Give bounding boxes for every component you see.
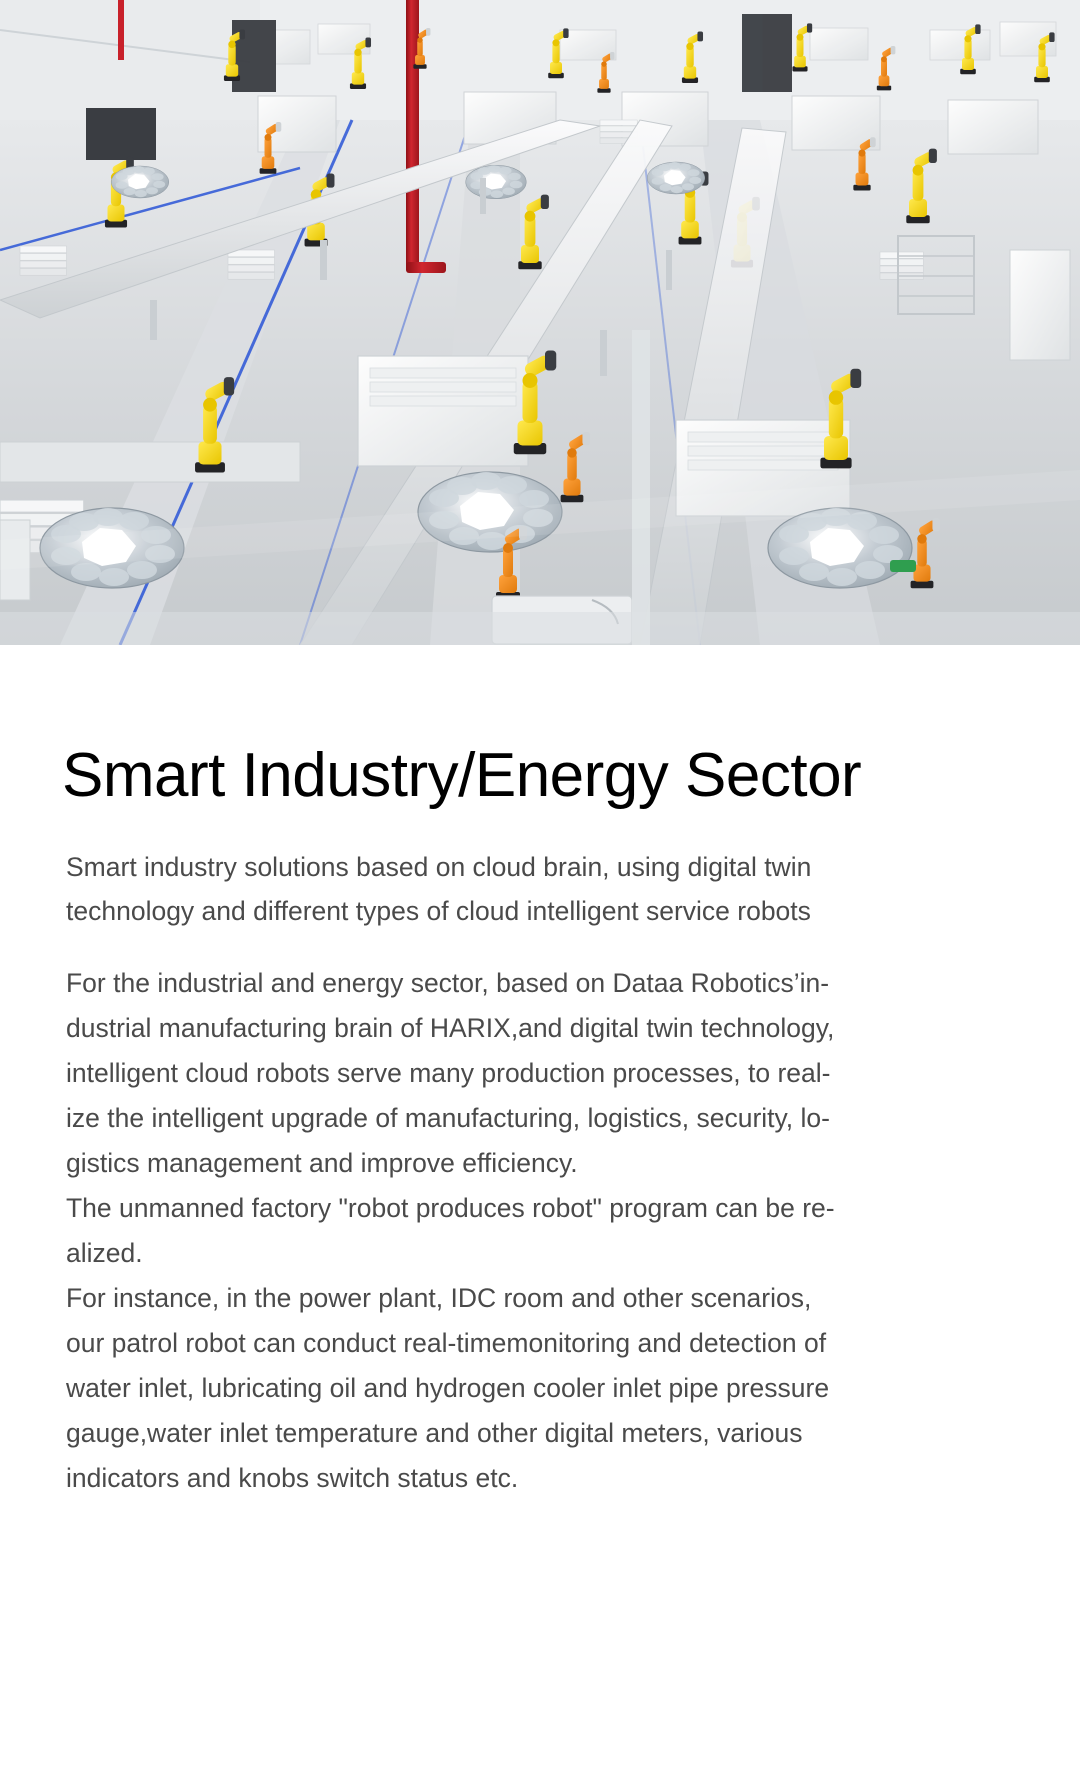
- article-body: Smart industry solutions based on cloud …: [66, 845, 896, 1501]
- body-line: dustrial manufacturing brain of HARIX,an…: [66, 1006, 896, 1051]
- body-line: gistics management and improve efficienc…: [66, 1141, 896, 1186]
- page-title: Smart Industry/Energy Sector: [62, 745, 1042, 807]
- body-line: indicators and knobs switch status etc.: [66, 1456, 896, 1501]
- body-line: alized.: [66, 1231, 896, 1276]
- lede-line: technology and different types of cloud …: [66, 896, 811, 926]
- body-line: water inlet, lubricating oil and hydroge…: [66, 1366, 896, 1411]
- body-line: our patrol robot can conduct real-timemo…: [66, 1321, 896, 1366]
- body-line: For instance, in the power plant, IDC ro…: [66, 1276, 896, 1321]
- body-line: The unmanned factory "robot produces rob…: [66, 1186, 896, 1231]
- body-line: ize the intelligent upgrade of manufactu…: [66, 1096, 896, 1141]
- lede-line: Smart industry solutions based on cloud …: [66, 852, 811, 882]
- page-root: Smart Industry/Energy Sector Smart indus…: [0, 0, 1080, 1785]
- smart-factory-illustration: [0, 0, 1080, 645]
- body-line: For the industrial and energy sector, ba…: [66, 961, 896, 1006]
- body-line: gauge,water inlet temperature and other …: [66, 1411, 896, 1456]
- body-line: intelligent cloud robots serve many prod…: [66, 1051, 896, 1096]
- article-lede: Smart industry solutions based on cloud …: [66, 845, 896, 933]
- hero-image-smart-factory: [0, 0, 1080, 645]
- article-paragraph: For the industrial and energy sector, ba…: [66, 961, 896, 1501]
